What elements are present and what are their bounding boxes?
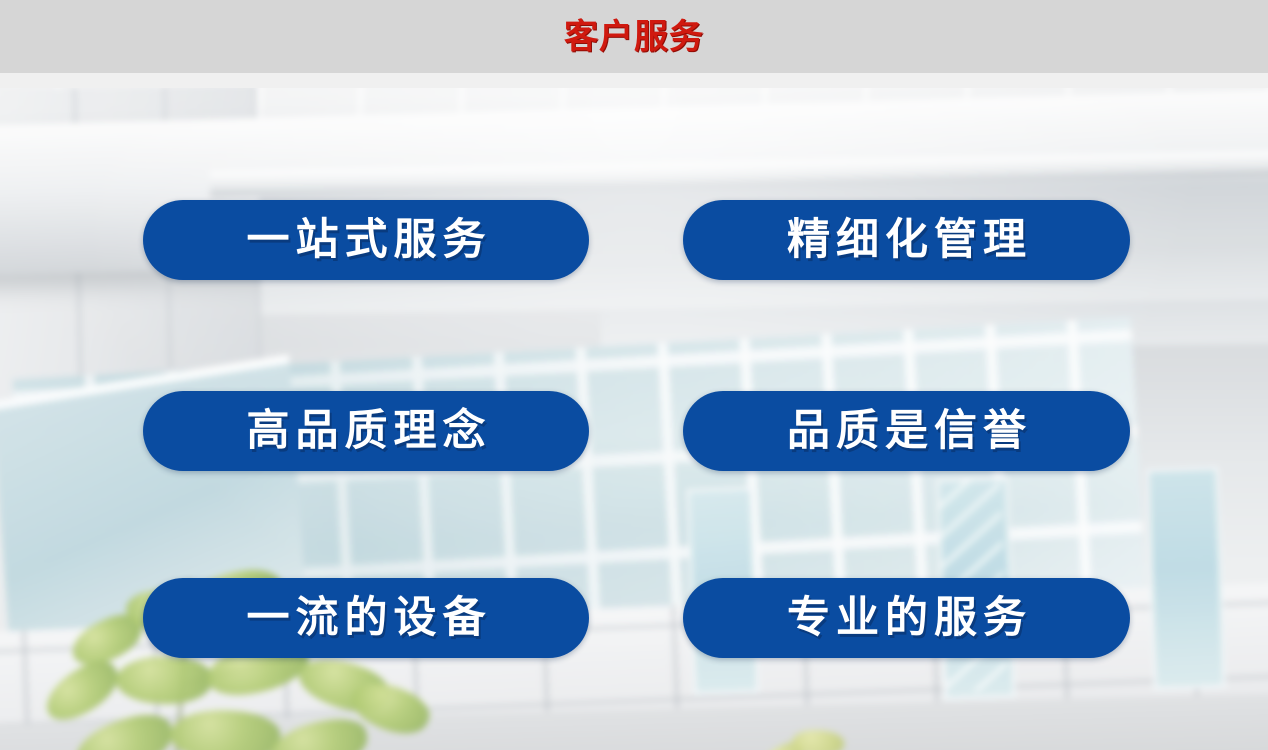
page-title: 客户服务 [564,20,704,54]
feature-pill-label: 专业的服务 [781,597,1032,640]
feature-pill-label: 一站式服务 [241,219,492,262]
header-divider-strip [0,73,1268,88]
feature-pill-label: 高品质理念 [241,410,492,453]
feature-pill-first-class-equipment[interactable]: 一流的设备 [143,578,589,658]
hero-section: 一站式服务 精细化管理 高品质理念 品质是信誉 一流的设备 专业的服务 [0,88,1268,750]
header-band: 客户服务 [0,0,1268,73]
feature-pill-one-stop-service[interactable]: 一站式服务 [143,200,589,280]
feature-pill-label: 一流的设备 [241,597,492,640]
feature-pill-grid: 一站式服务 精细化管理 高品质理念 品质是信誉 一流的设备 专业的服务 [0,88,1268,750]
feature-pill-high-quality-concept[interactable]: 高品质理念 [143,391,589,471]
feature-pill-refined-management[interactable]: 精细化管理 [683,200,1130,280]
feature-pill-professional-service[interactable]: 专业的服务 [683,578,1130,658]
feature-pill-quality-is-reputation[interactable]: 品质是信誉 [683,391,1130,471]
feature-pill-label: 品质是信誉 [781,410,1032,453]
feature-pill-label: 精细化管理 [781,219,1032,262]
customer-service-banner: 客户服务 [0,0,1268,750]
